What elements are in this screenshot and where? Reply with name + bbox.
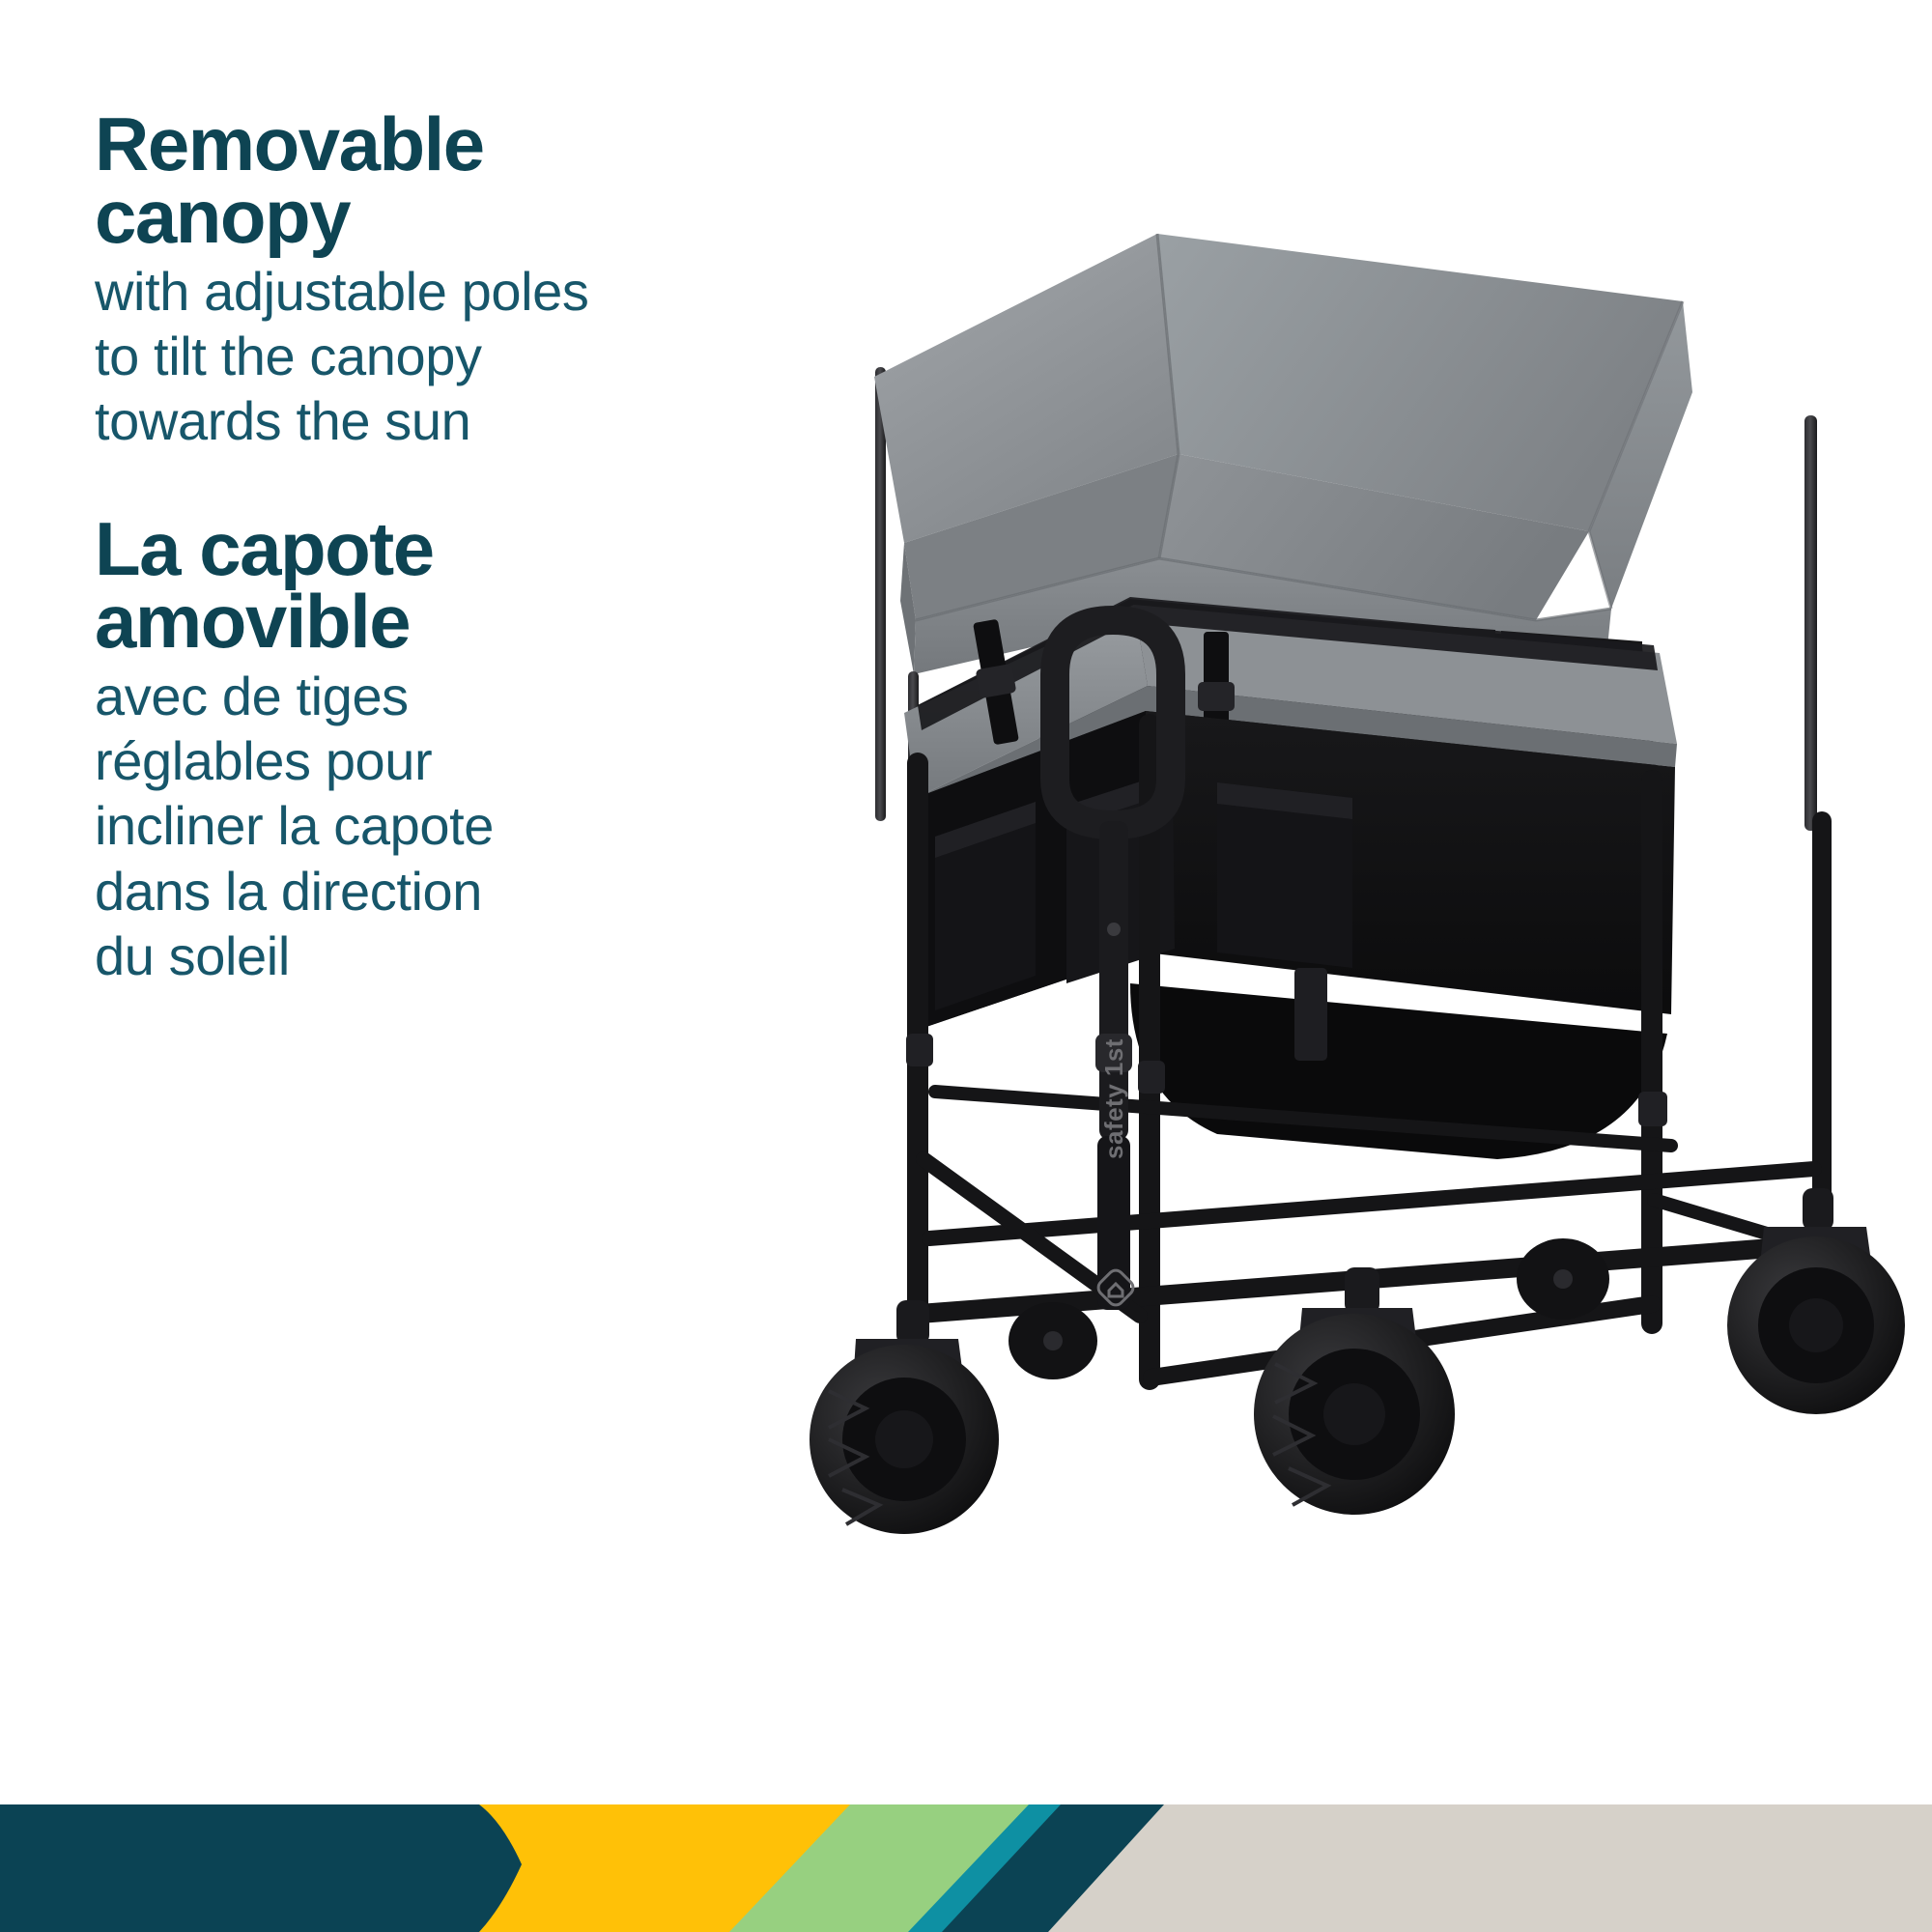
storage-pocket-front[interactable] — [1217, 782, 1352, 968]
storage-pocket-left[interactable] — [935, 802, 1036, 1010]
wheel-inner-hub-right — [1517, 1238, 1609, 1320]
body-en-line-3: towards the sun — [95, 388, 713, 453]
wheel-rear-left — [810, 1300, 999, 1534]
wheel-inner-hub — [1009, 1302, 1097, 1379]
headline-en: Removable canopy — [95, 108, 713, 253]
body-en-line-2: to tilt the canopy — [95, 324, 713, 388]
footer-stripe-dark-teal-chevron — [0, 1804, 522, 1932]
body-fr-line-3: incliner la capote — [95, 793, 713, 858]
body-fr-line-5: du soleil — [95, 923, 713, 988]
caster-stem-front-right — [1345, 1267, 1379, 1314]
canopy-pole-rear-right — [1804, 415, 1817, 831]
body-en-line-1: with adjustable poles — [95, 259, 713, 324]
canopy-pole-rear-left — [875, 367, 886, 821]
body-fr-line-2: réglables pour — [95, 728, 713, 793]
body-fr-line-4: dans la direction — [95, 859, 713, 923]
wagon-body — [904, 597, 1677, 1159]
body-fr-line-1: avec de tiges — [95, 664, 713, 728]
product-feature-card: Removable canopy with adjustable poles t… — [0, 0, 1932, 1932]
copy-panel: Removable canopy with adjustable poles t… — [95, 108, 713, 988]
caster-stem-rear-left — [896, 1300, 929, 1345]
handle-button[interactable] — [1107, 923, 1121, 936]
footer-color-bar — [0, 1804, 1932, 1932]
basket-strap-buckle[interactable] — [1294, 968, 1327, 1061]
caster-stem-rear-right — [1803, 1188, 1833, 1231]
wheel-front-right — [1254, 1267, 1455, 1515]
product-photo: safety 1st — [676, 184, 1932, 1777]
wheel-rear-right — [1727, 1188, 1905, 1414]
body-en: with adjustable poles to tilt the canopy… — [95, 259, 713, 454]
headline-fr-line-2: amovible — [95, 579, 410, 664]
headline-fr: La capote amovible — [95, 513, 549, 658]
wagon-illustration: safety 1st — [676, 184, 1932, 1777]
brand-text: safety 1st — [1099, 1038, 1128, 1159]
body-fr: avec de tiges réglables pour incliner la… — [95, 664, 713, 988]
